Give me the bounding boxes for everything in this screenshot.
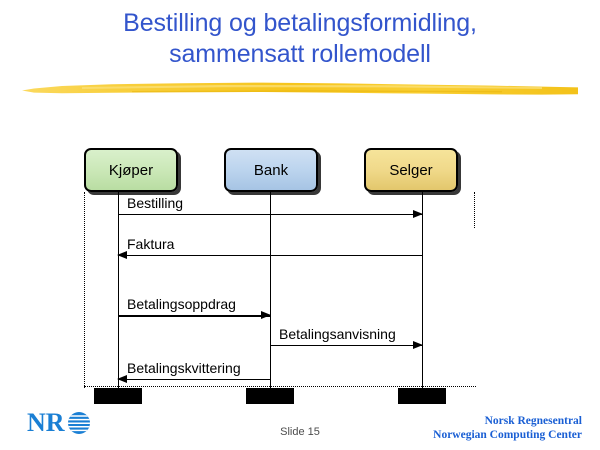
organization-name: Norsk Regnesentral Norwegian Computing C… [433,414,582,442]
message-label-betalingsoppdrag: Betalingsoppdrag [126,296,237,312]
organization-name-line-2: Norwegian Computing Center [433,428,582,442]
sequence-diagram: Kjøper Bank Selger Bestilling Faktura Be… [0,130,600,400]
page-title: Bestilling og betalingsformidling, samme… [0,8,600,70]
brush-stroke-decoration [22,78,578,104]
message-label-bestilling: Bestilling [126,195,184,211]
actor-label-selger: Selger [389,162,432,179]
actor-box-selger[interactable]: Selger [364,148,458,192]
actor-label-bank: Bank [254,162,288,179]
organization-name-line-1: Norsk Regnesentral [433,414,582,428]
lifeline-selger [422,192,423,389]
lifeline-kjoper [118,192,119,389]
message-line [118,255,422,256]
arrow-head-left-icon [117,375,127,383]
page-title-line-1: Bestilling og betalingsformidling, [0,8,600,39]
message-label-betalingsanvisning: Betalingsanvisning [278,326,397,342]
actor-box-bank[interactable]: Bank [224,148,318,192]
arrow-head-right-icon [413,210,423,218]
message-label-betalingskvittering: Betalingskvittering [126,360,242,376]
message-label-faktura: Faktura [126,236,175,252]
message-line [118,379,270,380]
activation-bar-kjoper [94,388,142,404]
actor-box-kjoper[interactable]: Kjøper [84,148,178,192]
frame-bottom-dotted-line [84,386,476,387]
actor-label-kjoper: Kjøper [109,162,153,179]
message-line [118,315,270,317]
message-line [118,214,422,215]
page-title-line-2: sammensatt rollemodell [0,39,600,70]
arrow-head-right-icon [413,341,423,349]
arrow-head-right-icon [261,311,271,319]
activation-bar-bank [246,388,294,404]
frame-left-dotted-line [84,192,85,388]
lifeline-bank [270,192,271,389]
slide-footer: NR Slide 15 Norsk Regnesentral Norwegian… [0,404,600,450]
message-line [270,345,422,346]
activation-bar-selger [398,388,446,404]
arrow-head-left-icon [117,251,127,259]
frame-right-dotted-line [474,192,475,228]
